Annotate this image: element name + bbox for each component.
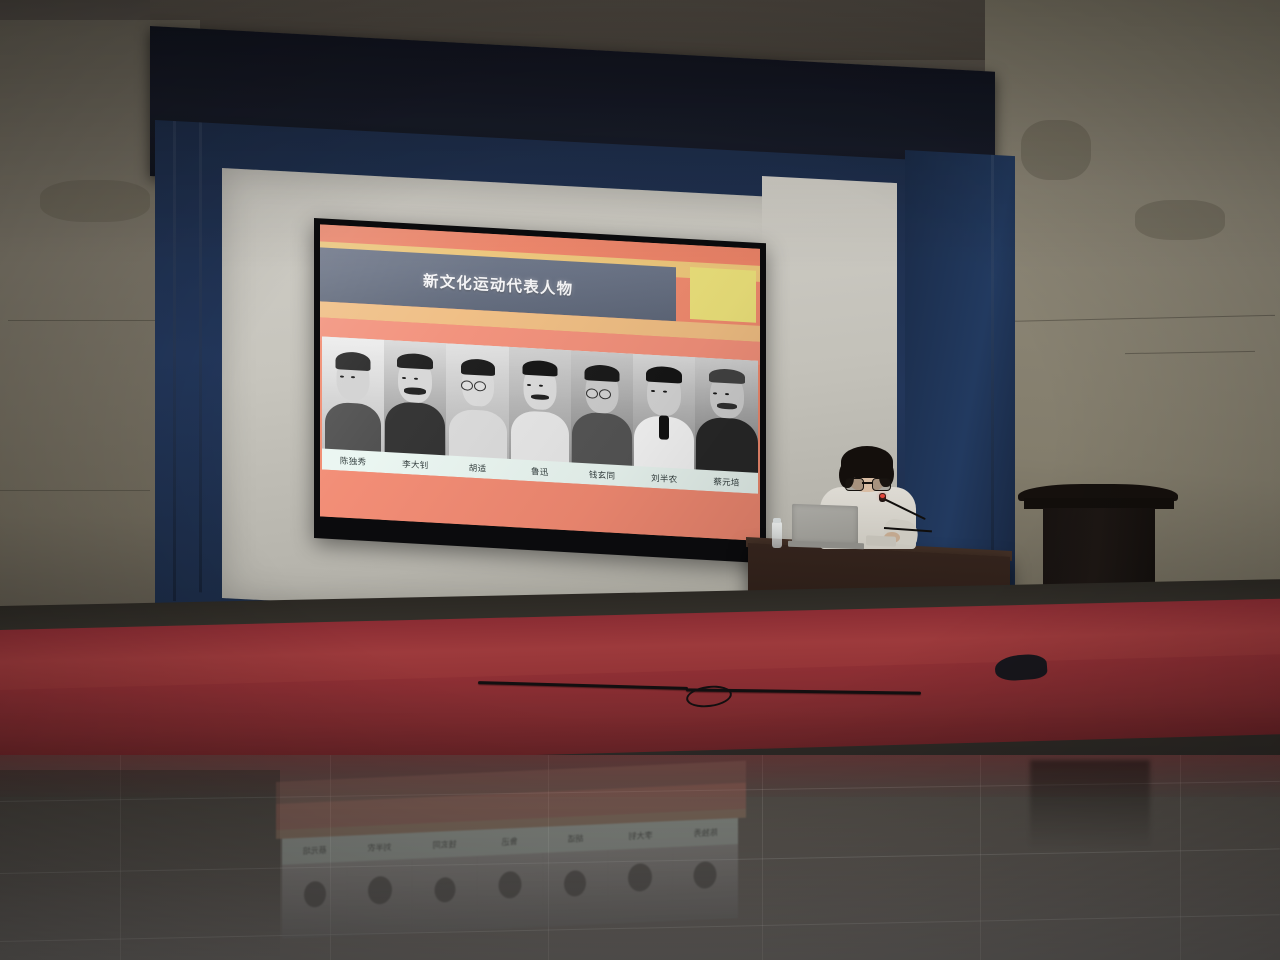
- portrait-name: 钱玄同: [571, 467, 633, 482]
- slide-yellow-accent-block: [690, 267, 756, 323]
- portrait-4: [509, 347, 571, 465]
- laptop-screen[interactable]: [792, 504, 858, 545]
- paper-stack: [866, 535, 896, 547]
- presentation-slide: 新文化运动代表人物: [320, 224, 760, 541]
- reflected-name: 蔡元培: [282, 843, 347, 857]
- reflected-name: 李大钊: [608, 828, 673, 842]
- floor-reflection-of-slide: 蔡元培 刘半农 钱玄同 鲁迅 胡适 李大钊 陈独秀: [276, 761, 746, 942]
- portrait-name: 刘半农: [633, 470, 695, 485]
- glasses-icon: [845, 478, 889, 489]
- reflected-name: 钱玄同: [412, 837, 477, 851]
- lecture-hall-photo: 新文化运动代表人物: [0, 0, 1280, 960]
- portrait-7: [695, 357, 757, 475]
- microphone-led-icon: [880, 494, 885, 498]
- portrait-name: 陈独秀: [322, 453, 384, 468]
- portrait-name: 鲁迅: [509, 463, 571, 478]
- reflected-name: 刘半农: [347, 840, 412, 854]
- portrait-3: [446, 343, 508, 461]
- portrait-1: [322, 336, 384, 454]
- portrait-2: [384, 340, 446, 458]
- water-bottle: [772, 522, 782, 548]
- portrait-name: 李大钊: [384, 456, 446, 471]
- reflected-name: 胡适: [543, 831, 608, 845]
- water-bottle-cap: [773, 518, 781, 523]
- slide-title: 新文化运动代表人物: [423, 269, 573, 299]
- portrait-name: 蔡元培: [695, 474, 757, 489]
- portrait-6: [633, 354, 695, 472]
- reflected-name: 鲁迅: [477, 834, 542, 848]
- projected-slide-frame: 新文化运动代表人物: [314, 218, 766, 563]
- reflected-name: 陈独秀: [673, 826, 738, 840]
- portrait-5: [571, 350, 633, 468]
- portrait-name: 胡适: [446, 460, 508, 475]
- floor-shadow-left: [0, 770, 280, 960]
- lectern-reflection: [1030, 760, 1150, 850]
